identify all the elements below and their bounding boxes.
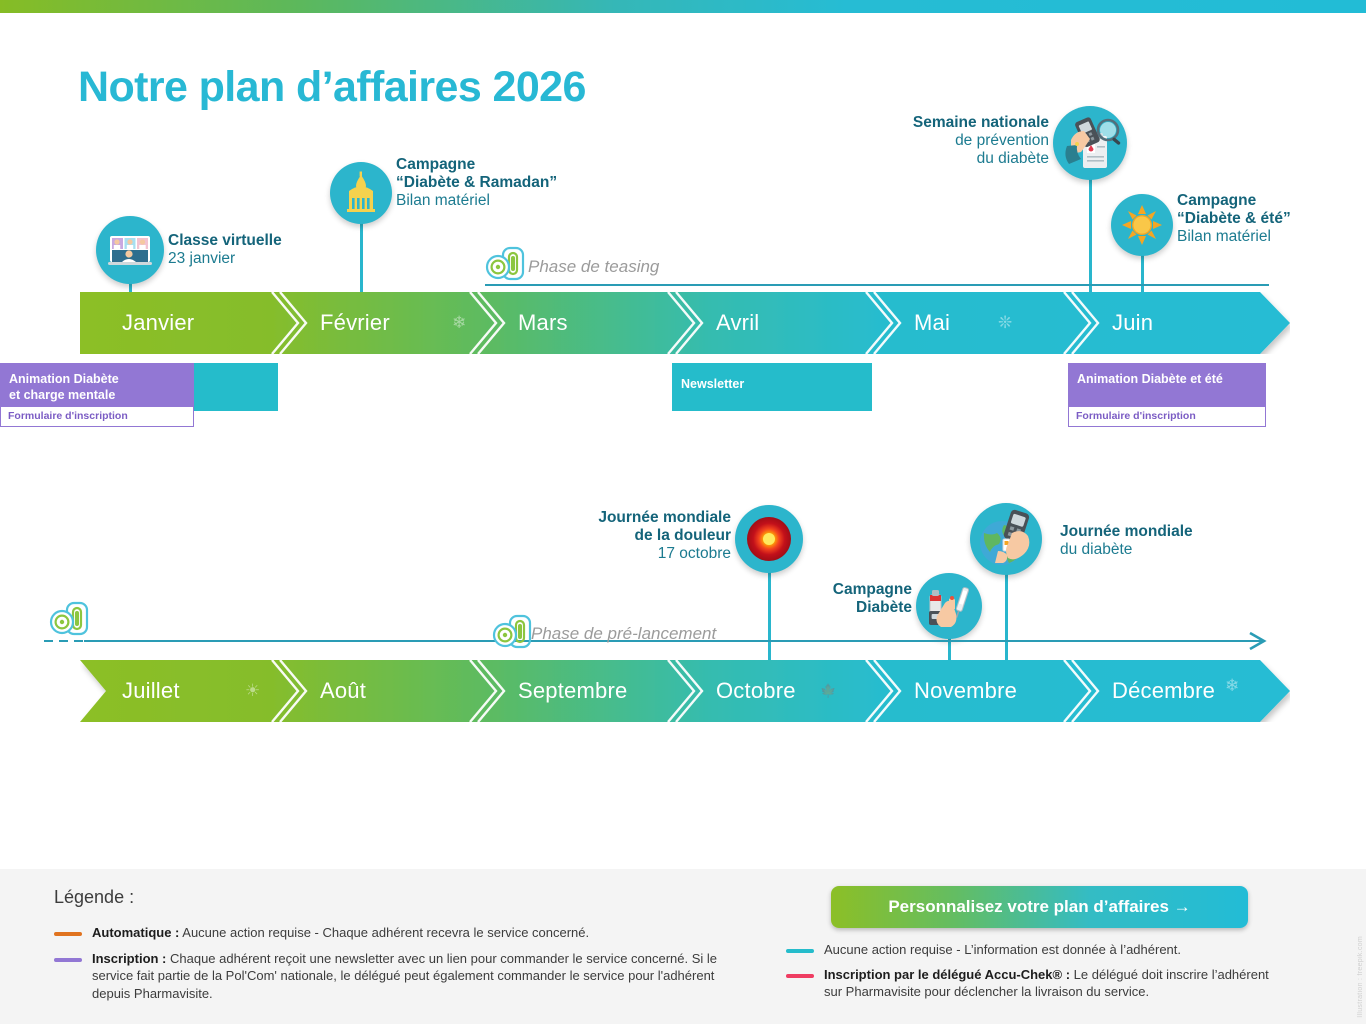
globe-glucometer-icon: [970, 503, 1042, 575]
activity-box-title: Newsletter: [672, 363, 872, 393]
event-label: Campagne Diabète: [833, 581, 912, 617]
activity-box-animation-diabete-ete[interactable]: Animation Diabète et été Formulaire d'in…: [1068, 363, 1266, 427]
legend-swatch-purple: [54, 958, 82, 962]
month-label-decembre: Décembre: [1112, 678, 1215, 704]
timeline-bar-second-half: Juillet ☀ Août Septembre Octobre 🍁 Novem…: [80, 660, 1290, 722]
legend-swatch-orange: [54, 932, 82, 936]
event-pin-campagne-ete[interactable]: Campagne “Diabète & été” Bilan matériel: [1111, 194, 1173, 296]
event-label: Journée mondiale de la douleur 17 octobr…: [598, 509, 731, 563]
event-pin-classe-virtuelle[interactable]: Classe virtuelle 23 janvier: [96, 216, 164, 296]
activity-box-janvier-teal[interactable]: [194, 363, 278, 411]
month-label-juin: Juin: [1112, 310, 1153, 336]
legend-desc: Aucune action requise - L’information es…: [824, 942, 1181, 957]
legend-text: Aucune action requise - L’information es…: [824, 941, 1181, 958]
legend-swatch-teal: [786, 949, 814, 953]
activity-box-title: Animation Diabète et charge mentale: [0, 363, 194, 403]
legend-desc: Chaque adhérent reçoit une newsletter av…: [92, 951, 717, 1001]
personnalisez-plan-button[interactable]: Personnalisez votre plan d’affaires →: [831, 886, 1248, 928]
phase-teasing-label: Phase de teasing: [528, 257, 659, 277]
event-label: Campagne “Diabète & Ramadan” Bilan matér…: [396, 156, 557, 210]
meter-strip-icon: [485, 245, 529, 283]
activity-box-newsletter[interactable]: Newsletter: [672, 363, 872, 411]
phase-prelancement-label: Phase de pré-lancement: [531, 624, 716, 644]
event-label: Semaine nationale de prévention du diabè…: [913, 114, 1049, 168]
month-label-octobre: Octobre: [716, 678, 796, 704]
legend-item-information: Aucune action requise - L’information es…: [786, 941, 1276, 958]
legend-text: Automatique : Aucune action requise - Ch…: [92, 924, 589, 941]
pin-stem: [1005, 569, 1008, 660]
top-gradient-bar: [0, 0, 1366, 13]
event-pin-journee-diabete[interactable]: Journée mondiale du diabète: [970, 503, 1042, 660]
event-label: Classe virtuelle 23 janvier: [168, 232, 282, 268]
activity-box-title: Animation Diabète et été: [1068, 363, 1266, 388]
month-label-avril: Avril: [716, 310, 759, 336]
month-label-juillet: Juillet: [122, 678, 180, 704]
legend-text: Inscription par le délégué Accu-Chek® : …: [824, 966, 1276, 1001]
month-label-fevrier: Février: [320, 310, 390, 336]
sun-icon-juillet: ☀: [245, 681, 260, 701]
sun-icon: [1111, 194, 1173, 256]
flower-icon-mai: ❊: [998, 313, 1012, 333]
month-label-mars: Mars: [518, 310, 568, 336]
month-label-novembre: Novembre: [914, 678, 1017, 704]
illustration-credit: Illustration : freepik.com: [1357, 936, 1364, 1018]
activity-box-form-link[interactable]: Formulaire d'inscription: [1068, 406, 1266, 427]
event-pin-journee-douleur[interactable]: Journée mondiale de la douleur 17 octobr…: [735, 505, 803, 660]
month-label-aout: Août: [320, 678, 366, 704]
pin-stem: [768, 567, 771, 660]
month-label-septembre: Septembre: [518, 678, 627, 704]
pain-target-icon: [735, 505, 803, 573]
mosque-icon: [330, 162, 392, 224]
legend-item-automatique: Automatique : Aucune action requise - Ch…: [54, 924, 754, 941]
month-label-mai: Mai: [914, 310, 950, 336]
pin-stem: [1089, 174, 1092, 296]
page-title: Notre plan d’affaires 2026: [78, 63, 586, 112]
legend-swatch-pink: [786, 974, 814, 978]
legend-desc: Aucune action requise - Chaque adhérent …: [179, 925, 589, 940]
snowflake-icon-fevrier: ❄: [452, 313, 466, 333]
month-label-janvier: Janvier: [122, 310, 194, 336]
legend-term: Inscription :: [92, 951, 166, 966]
glucometer-report-icon: [1053, 106, 1127, 180]
phase-prelancement-dash: [44, 640, 84, 642]
legend-item-inscription-delegue: Inscription par le délégué Accu-Chek® : …: [786, 966, 1276, 1001]
event-pin-campagne-ramadan[interactable]: Campagne “Diabète & Ramadan” Bilan matér…: [330, 162, 392, 296]
activity-box-animation-charge-mentale[interactable]: Animation Diabète et charge mentale Form…: [0, 363, 194, 427]
event-label: Journée mondiale du diabète: [1060, 523, 1193, 559]
meter-strip-icon-secondary: [492, 613, 536, 651]
legend-item-inscription: Inscription : Chaque adhérent reçoit une…: [54, 950, 754, 1002]
timeline-bar-first-half: Janvier Février ❄ Mars Avril Mai ❊ Juin: [80, 292, 1290, 354]
activity-box-form-link[interactable]: Formulaire d'inscription: [0, 406, 194, 427]
snowflake-icon-decembre: ❄: [1225, 676, 1239, 696]
virtual-class-icon: [96, 216, 164, 284]
event-label: Campagne “Diabète & été” Bilan matériel: [1177, 192, 1291, 246]
leaf-icon-octobre: 🍁: [820, 683, 836, 699]
legend-title: Légende :: [54, 887, 134, 908]
meter-strip-icon: [49, 600, 93, 638]
legend-text: Inscription : Chaque adhérent reçoit une…: [92, 950, 754, 1002]
legend-term: Inscription par le délégué Accu-Chek® :: [824, 967, 1070, 982]
arrow-right-icon: [1248, 630, 1270, 657]
legend-term: Automatique :: [92, 925, 179, 940]
phase-teasing-line: [485, 284, 1269, 286]
